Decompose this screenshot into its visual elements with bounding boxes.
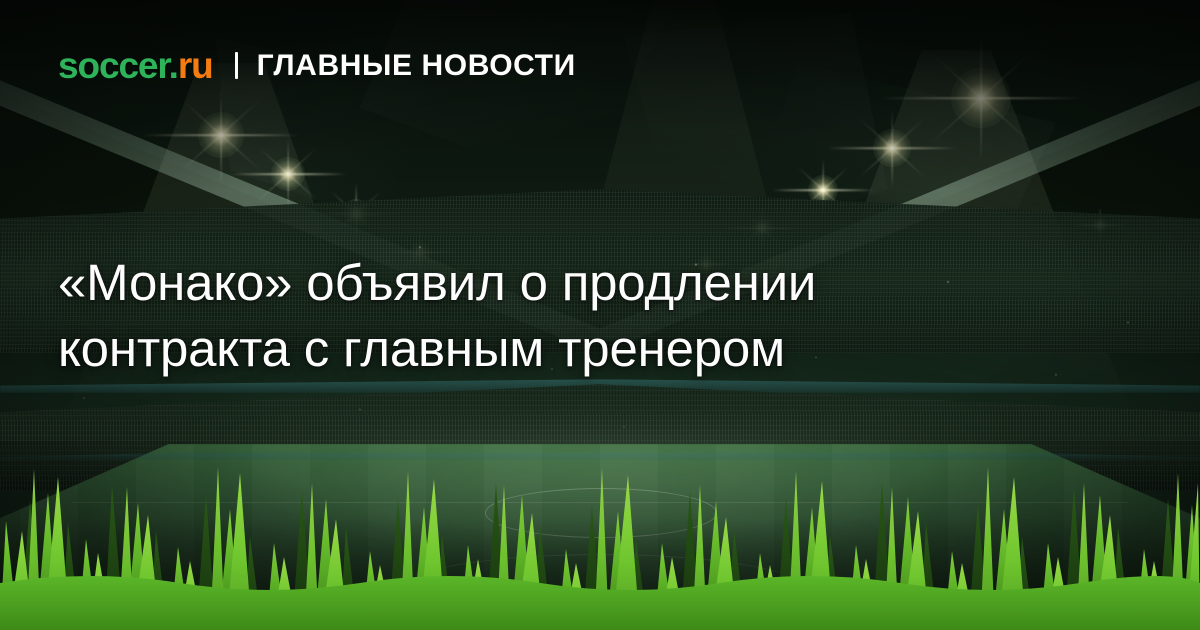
headline-line: «Монако» объявил о продлении xyxy=(58,250,1142,316)
soccer-ru-logo[interactable]: soccer.ru xyxy=(58,47,213,84)
logo-dot: . xyxy=(169,45,178,86)
section-kicker: ГЛАВНЫЕ НОВОСТИ xyxy=(257,51,576,81)
site-header: soccer.ru ГЛАВНЫЕ НОВОСТИ xyxy=(58,47,576,84)
logo-text-suffix: ru xyxy=(178,45,213,86)
logo-text-primary: soccer xyxy=(58,45,169,86)
news-share-card: soccer.ru ГЛАВНЫЕ НОВОСТИ «Монако» объяв… xyxy=(0,0,1200,630)
article-headline: «Монако» объявил о продлении контракта с… xyxy=(58,250,1142,382)
headline-line: контракта с главным тренером xyxy=(58,316,1142,382)
header-separator-bar xyxy=(235,52,238,79)
